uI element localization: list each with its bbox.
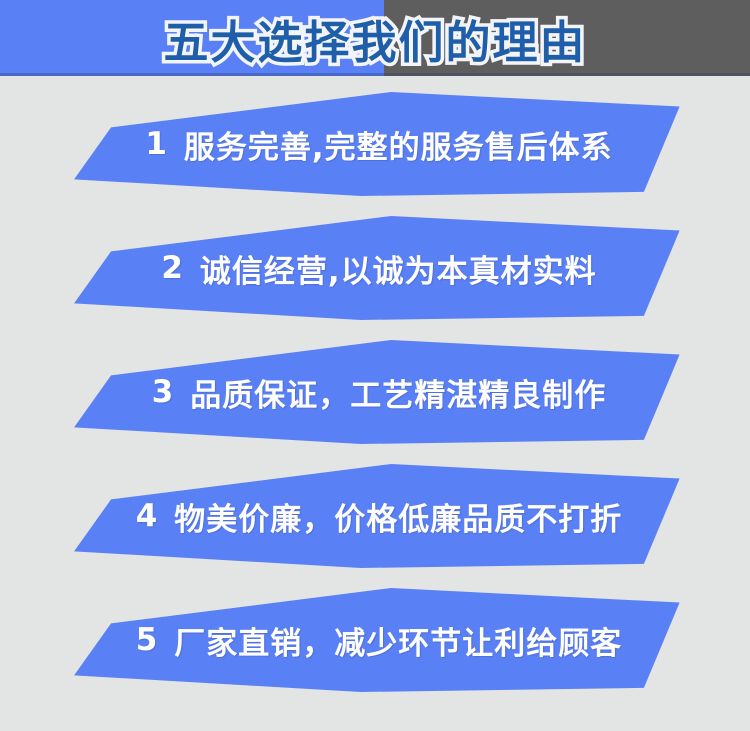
reason-row: 2 诚信经营,以诚为本真材实料 (0, 216, 750, 340)
reason-text: 厂家直销，减少环节让利给顾客 (174, 618, 622, 663)
reason-number: 5 (136, 622, 159, 658)
page-title: 五大选择我们的理由 (0, 0, 750, 76)
reason-text: 品质保证，工艺精湛精良制作 (190, 370, 606, 415)
reason-number: 1 (145, 126, 168, 162)
reason-label: 1 服务完善,完整的服务售后体系 (71, 92, 687, 196)
reasons-list: 1 服务完善,完整的服务售后体系 2 诚信经营,以诚为本真材实料 3 品质保证，… (0, 76, 750, 731)
reason-number: 3 (152, 374, 175, 410)
reason-text: 物美价廉，价格低廉品质不打折 (174, 494, 622, 539)
reason-text: 诚信经营,以诚为本真材实料 (200, 246, 597, 291)
reason-number: 4 (136, 498, 159, 534)
reason-label: 3 品质保证，工艺精湛精良制作 (71, 340, 687, 444)
reason-number: 2 (161, 250, 184, 286)
reason-text: 服务完善,完整的服务售后体系 (184, 122, 613, 167)
reason-row: 3 品质保证，工艺精湛精良制作 (0, 340, 750, 464)
reason-label: 5 厂家直销，减少环节让利给顾客 (71, 588, 687, 692)
reason-row: 1 服务完善,完整的服务售后体系 (0, 92, 750, 216)
reason-label: 4 物美价廉，价格低廉品质不打折 (71, 464, 687, 568)
reason-row: 5 厂家直销，减少环节让利给顾客 (0, 588, 750, 712)
page-header: 五大选择我们的理由 (0, 0, 750, 76)
reason-row: 4 物美价廉，价格低廉品质不打折 (0, 464, 750, 588)
reason-label: 2 诚信经营,以诚为本真材实料 (71, 216, 687, 320)
